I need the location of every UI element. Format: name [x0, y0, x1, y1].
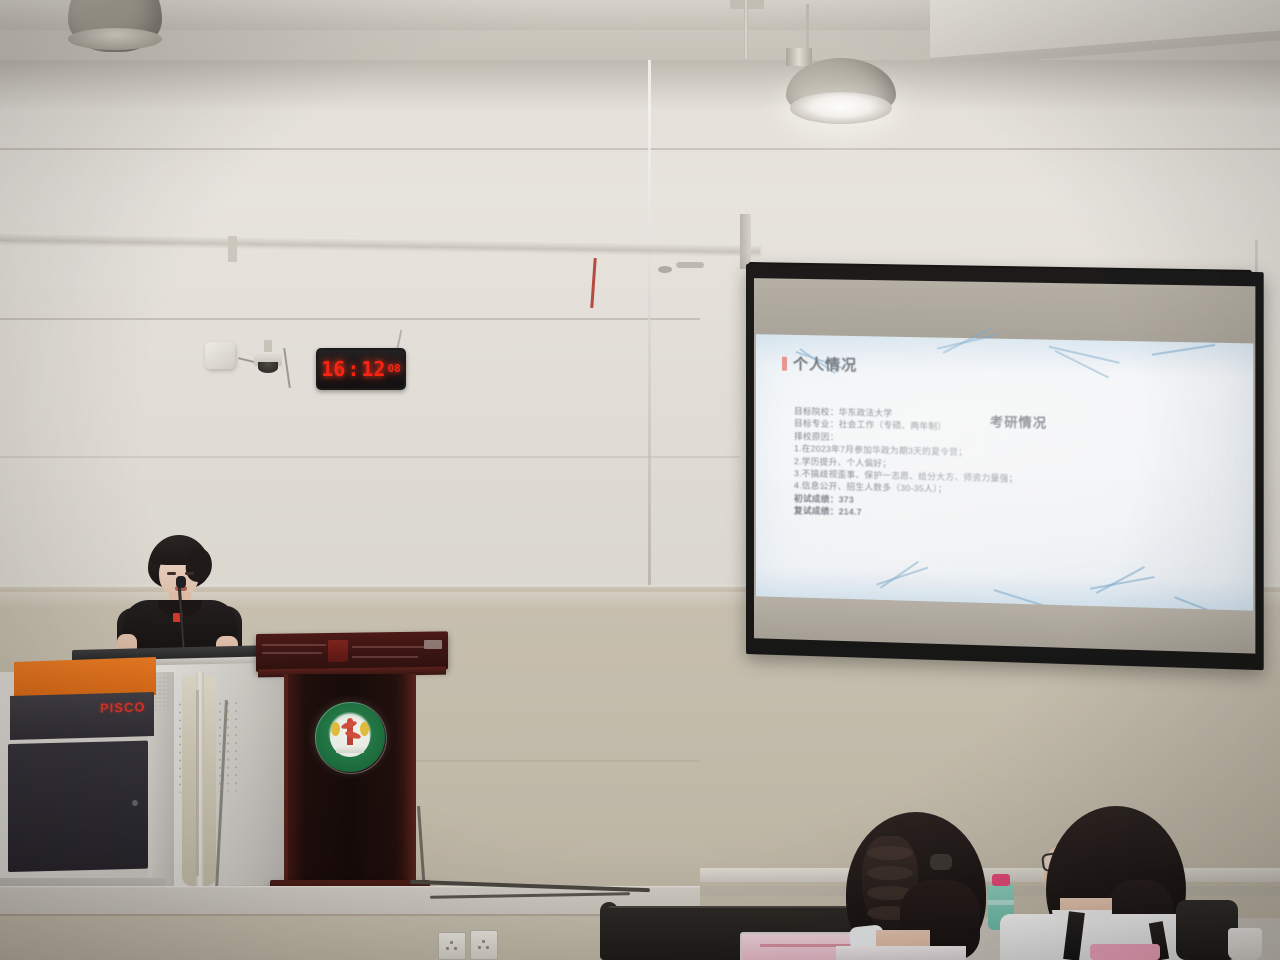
wifi-access-point-icon — [205, 342, 235, 369]
pendant-lamp-rod — [744, 0, 748, 58]
dome-camera-icon — [258, 362, 278, 373]
pendant-lamp-light — [790, 92, 892, 124]
water-bottle-cap — [992, 874, 1010, 886]
podium-control-badge — [424, 640, 442, 649]
presentation-slide: 个人情况 考研情况 目标院校：华东政法大学 目标专业：社会工作（专硕、两年制） … — [756, 334, 1253, 615]
student-one-hair-tie — [930, 854, 952, 870]
screen-surface: 个人情况 考研情况 目标院校：华东政法大学 目标专业：社会工作（专硕、两年制） … — [754, 278, 1255, 653]
clock-hours: 16 — [321, 359, 345, 379]
water-bottle-band — [988, 900, 1014, 905]
slide-projector-glow — [756, 334, 1253, 615]
wall-vertical-seam — [648, 60, 651, 588]
podium-stripe — [352, 646, 424, 648]
wall-digital-clock: 16 : 12 08 — [316, 348, 406, 390]
wall-socket — [470, 930, 498, 960]
right-wall-band — [700, 868, 1280, 882]
wall-joint — [0, 318, 700, 320]
clock-minutes: 12 — [361, 359, 385, 379]
podium-stripe — [262, 652, 322, 654]
clock-seconds: 08 — [387, 363, 400, 374]
lecture-hall-photo: 16 : 12 08 — [0, 0, 1280, 960]
podium-edge-right — [404, 674, 416, 888]
podium-stripe — [352, 656, 418, 658]
projection-screen: 个人情况 考研情况 目标院校：华东政法大学 目标专业：社会工作（专硕、两年制） … — [746, 264, 1264, 670]
conduit-bracket — [228, 236, 237, 262]
presenter-eye — [185, 572, 194, 575]
equipment-brand-label: PISCO — [100, 699, 145, 715]
clock-separator: : — [347, 359, 359, 379]
wall-joint — [0, 148, 1280, 150]
wall-socket — [438, 932, 466, 960]
cabinet-lock-icon — [132, 800, 138, 806]
pendant-lamp-neck — [786, 48, 812, 66]
wall-joint — [0, 456, 740, 458]
conduit-bracket — [740, 214, 751, 269]
pink-stationery — [1090, 944, 1160, 960]
student-one-shirt — [836, 946, 966, 960]
emblem-text-ring — [315, 702, 387, 774]
wall-mark — [658, 266, 672, 273]
wall-top-shadow — [0, 60, 1280, 110]
microphone-icon — [176, 576, 186, 588]
podium-center-panel — [328, 640, 348, 662]
podium-stripe — [262, 644, 326, 646]
stage-front-face — [0, 916, 700, 960]
cabinet-dark-panel-lower — [8, 741, 148, 872]
presenter-eye — [167, 572, 176, 575]
white-cup — [1228, 928, 1262, 960]
wall-mark — [676, 262, 704, 268]
cloth-fold — [196, 690, 199, 876]
pendant-lamp-left-rim — [68, 28, 162, 50]
